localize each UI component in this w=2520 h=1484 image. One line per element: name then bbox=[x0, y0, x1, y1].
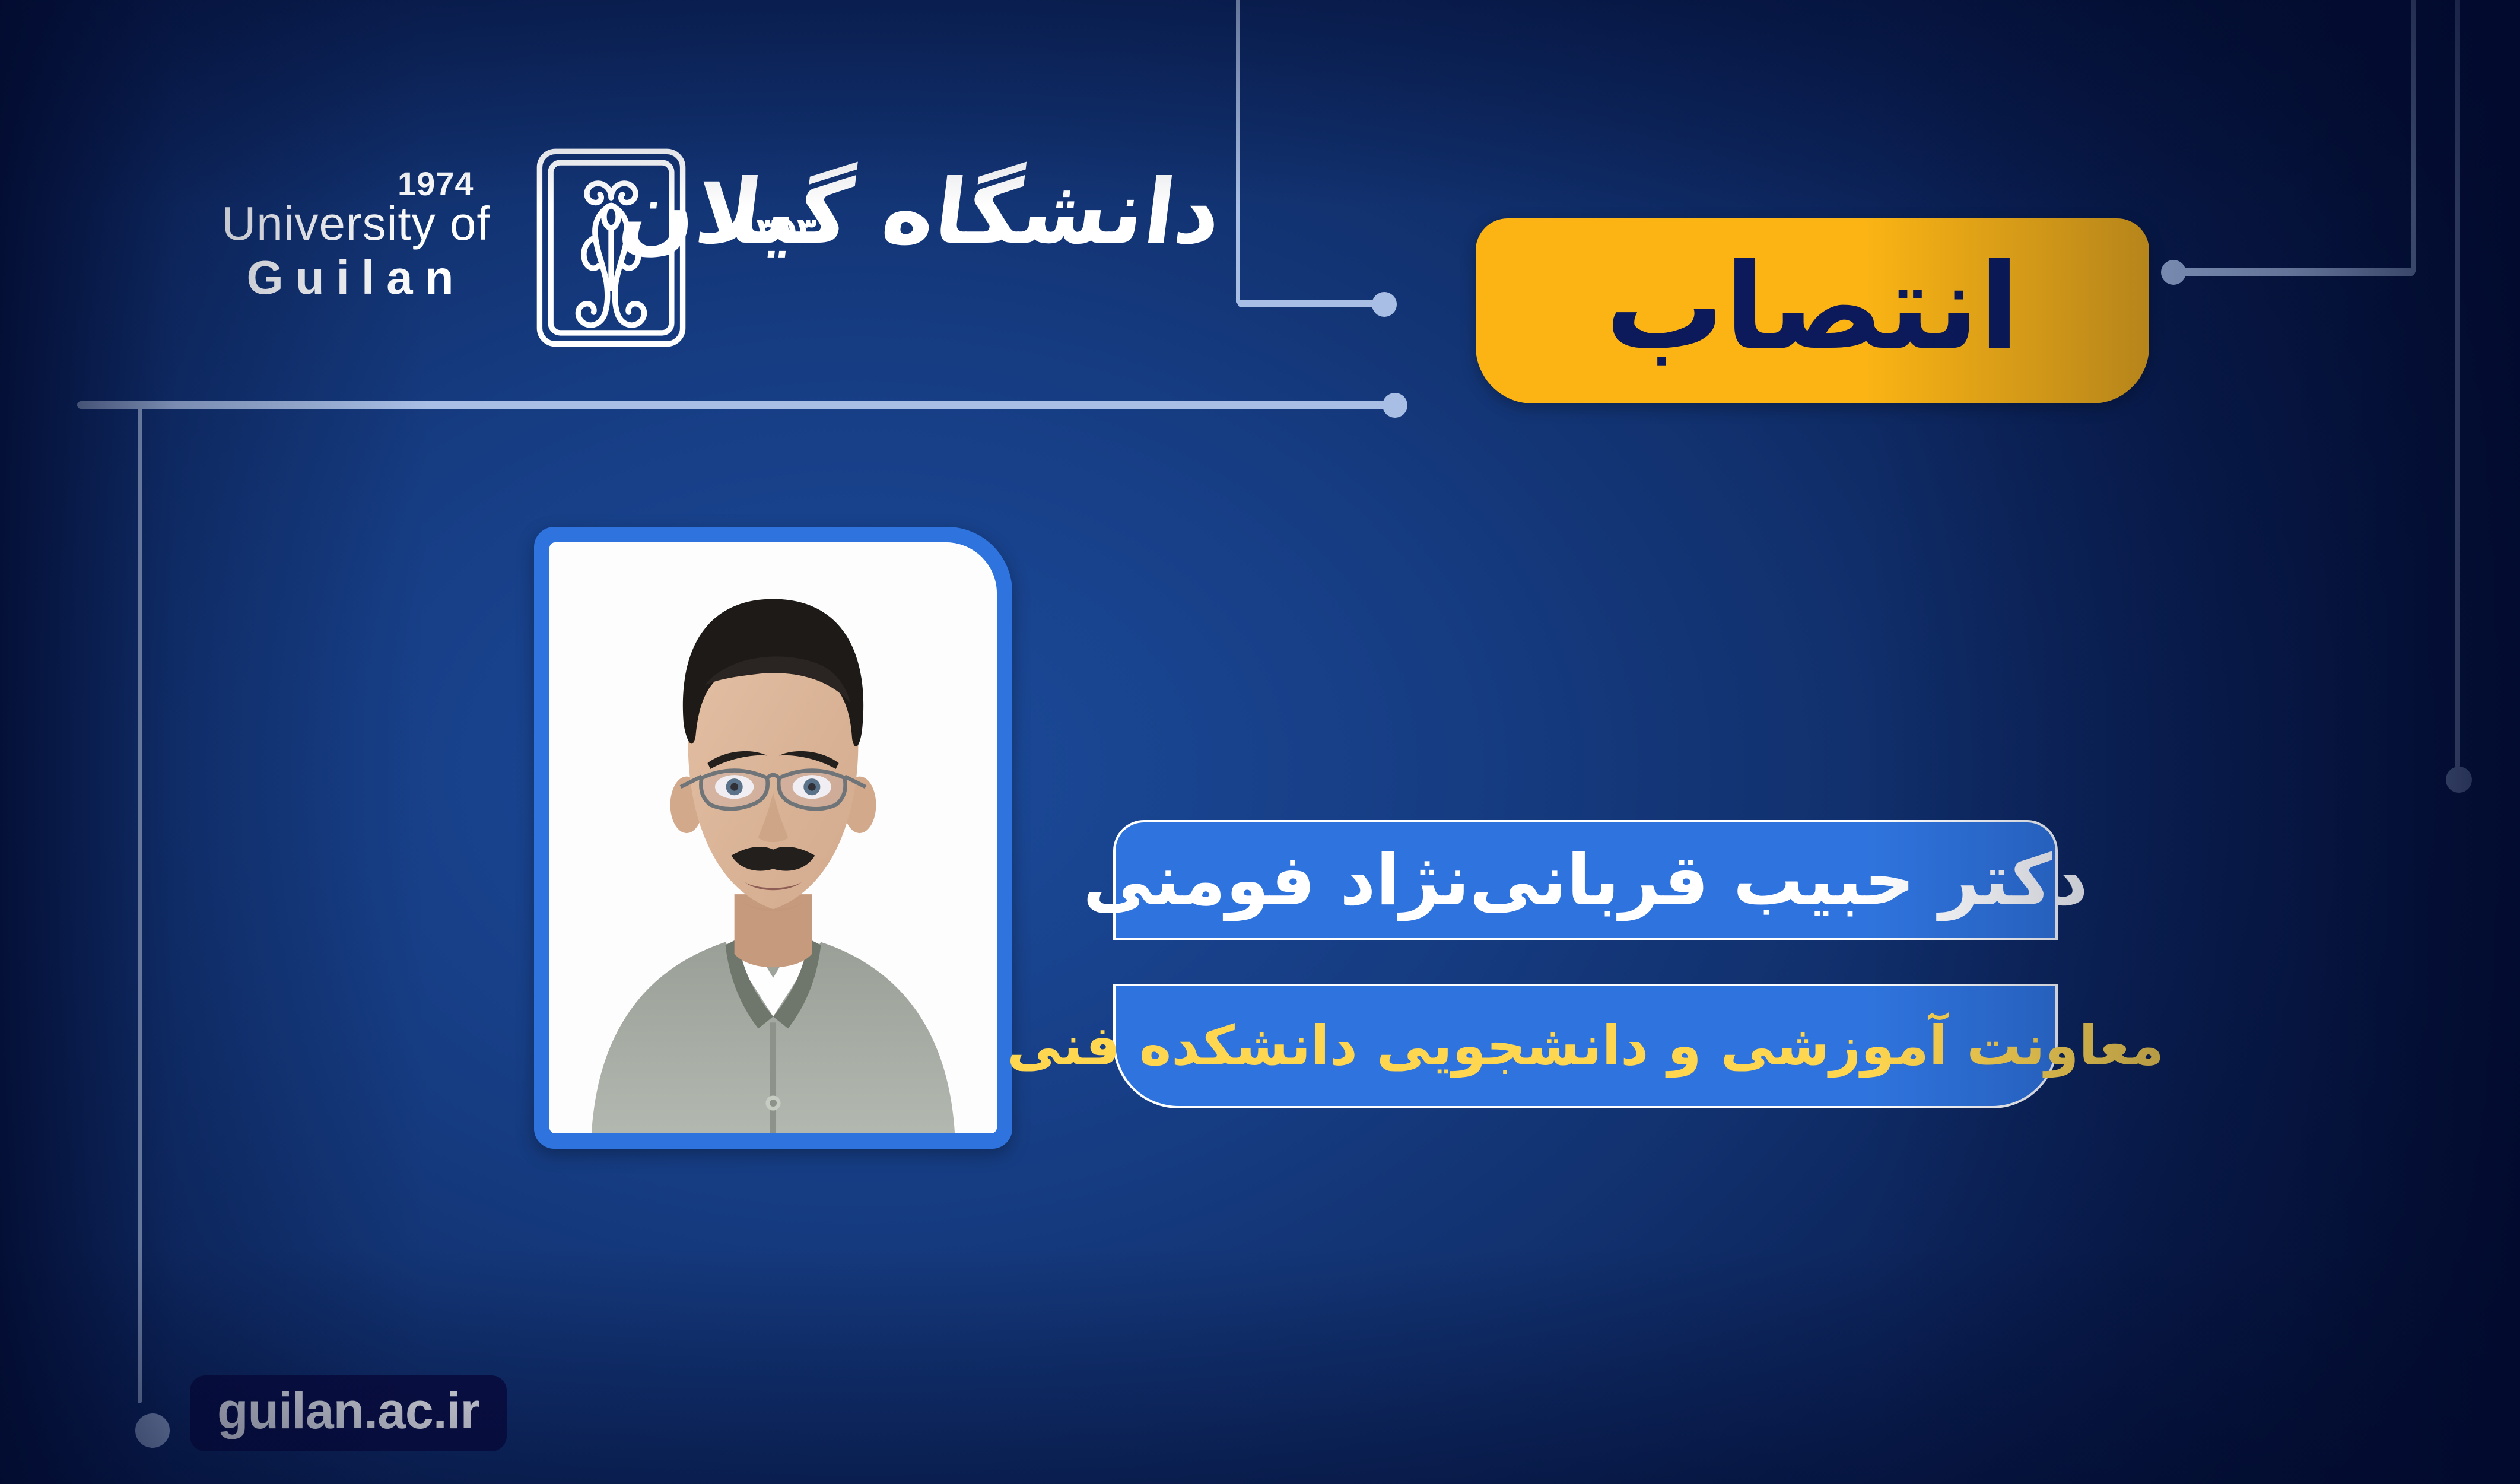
portrait-illustration bbox=[549, 542, 997, 1133]
decor-dot-bottom-left bbox=[135, 1413, 170, 1448]
person-role-badge: معاونت آموزشی و دانشجویی دانشکده فنی bbox=[1113, 984, 2058, 1108]
logo-english-line-1: University of bbox=[184, 199, 528, 248]
decor-dot-left-end bbox=[1383, 393, 1407, 418]
decor-line-left-horizontal bbox=[77, 401, 1397, 409]
poster-canvas: 1974 University of Guilan ۱۳۵۳ دانشگاه گ… bbox=[0, 0, 2520, 1484]
decor-line-right-horizontal bbox=[2179, 268, 2415, 276]
university-logo: 1974 University of Guilan ۱۳۵۳ دانشگاه گ… bbox=[178, 151, 1234, 347]
headline-label: انتصاب bbox=[1605, 248, 2019, 367]
decor-dot-far-right-end bbox=[2446, 767, 2472, 793]
decor-dot-mid-end bbox=[1372, 292, 1397, 317]
logo-persian-name: دانشگاه گیلان bbox=[737, 157, 1228, 335]
decor-line-far-right-vertical bbox=[2455, 0, 2460, 768]
headline-badge: انتصاب bbox=[1476, 218, 2149, 403]
decor-line-right-vertical bbox=[2411, 0, 2416, 273]
logo-english-line-2: Guilan bbox=[184, 252, 528, 304]
website-pill[interactable]: guilan.ac.ir bbox=[190, 1375, 507, 1451]
person-name-badge: دکتر حبیب قربانی‌نژاد فومنی bbox=[1113, 820, 2058, 940]
decor-dot-right-end bbox=[2161, 260, 2186, 285]
logo-english-name: University of Guilan bbox=[184, 199, 528, 304]
website-url: guilan.ac.ir bbox=[217, 1386, 479, 1437]
person-name: دکتر حبیب قربانی‌نژاد فومنی bbox=[1083, 845, 2088, 915]
decor-line-left-vertical bbox=[138, 403, 142, 1403]
portrait-frame bbox=[534, 527, 1012, 1149]
person-role: معاونت آموزشی و دانشجویی دانشکده فنی bbox=[1007, 1019, 2164, 1073]
decor-line-mid-vertical bbox=[1236, 0, 1240, 304]
portrait-photo bbox=[549, 542, 997, 1133]
